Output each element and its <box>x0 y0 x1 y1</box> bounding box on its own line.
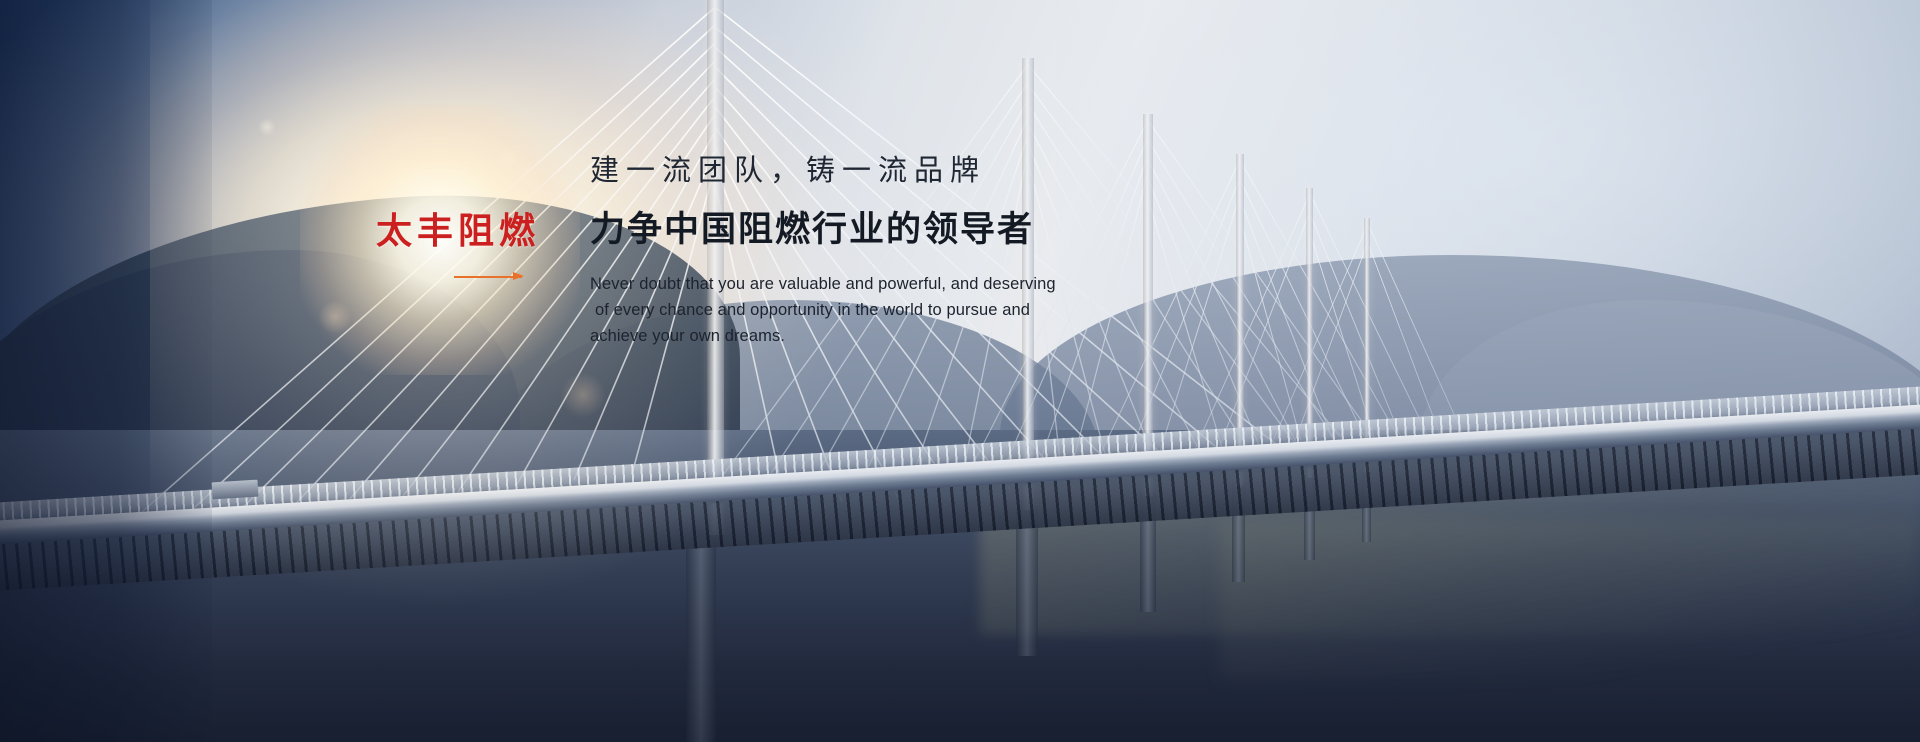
banner-copy: 建一流团队，铸一流品牌 力争中国阻燃行业的领导者 Never doubt tha… <box>590 152 1290 349</box>
banner-body-line-3: achieve your own dreams. <box>590 323 1060 349</box>
banner-body-line-1: Never doubt that you are valuable and po… <box>590 271 1060 297</box>
banner-headline: 力争中国阻燃行业的领导者 <box>590 209 1290 251</box>
banner-body-line-2: of every chance and opportunity in the w… <box>590 297 1060 323</box>
brand-logo[interactable]: 太丰阻燃 <box>376 214 556 278</box>
banner-content: 太丰阻燃 建一流团队，铸一流品牌 力争中国阻燃行业的领导者 Never doub… <box>0 0 1920 742</box>
arrow-right-icon <box>454 276 522 278</box>
brand-logo-text: 太丰阻燃 <box>376 214 556 250</box>
banner-subtitle: 建一流团队，铸一流品牌 <box>590 152 1290 188</box>
hero-banner: 太丰阻燃 建一流团队，铸一流品牌 力争中国阻燃行业的领导者 Never doub… <box>0 0 1920 742</box>
banner-body-text: Never doubt that you are valuable and po… <box>590 271 1060 349</box>
